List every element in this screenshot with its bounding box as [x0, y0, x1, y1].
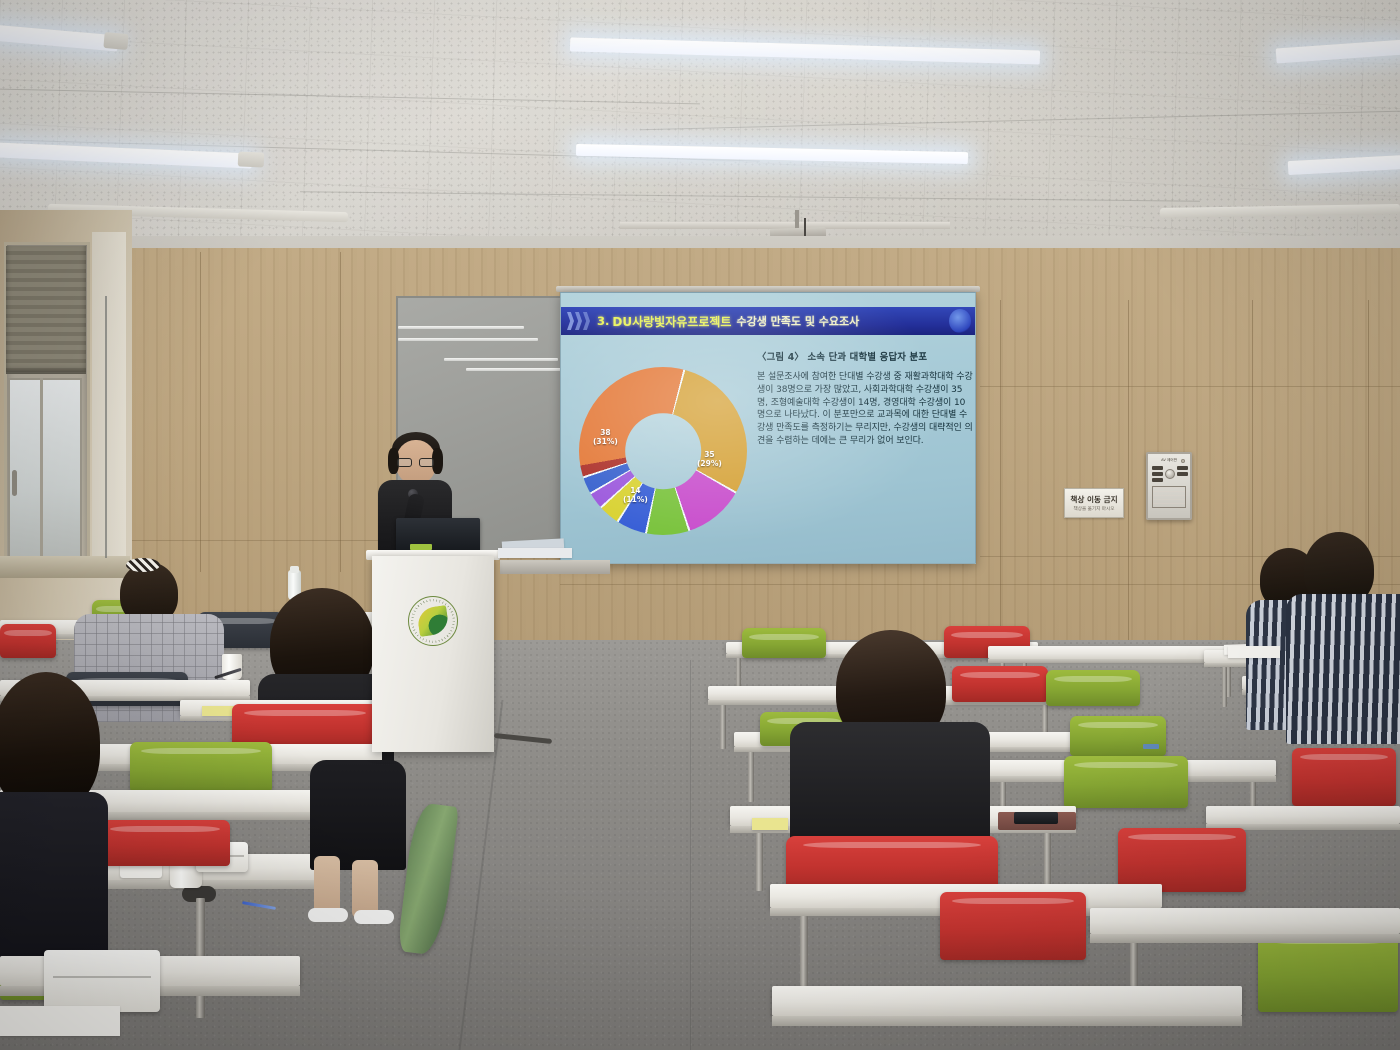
whiteboard-rail [398, 326, 524, 329]
sign-subtitle: 책상을 옮기지 마시오 [1074, 506, 1115, 512]
chair-label-tag [1143, 744, 1159, 749]
wall-panel-seam [980, 386, 1400, 387]
panel-button[interactable] [1152, 466, 1163, 470]
slide-body-text: 본 설문조사에 참여한 단대별 수강생 중 재활과학대학 수강생이 38명으로 … [757, 371, 973, 448]
panel-display [1152, 486, 1186, 508]
light-housing [103, 32, 128, 50]
slide-title-bar: 3. DU사랑빛자유프로젝트 수강생 만족도 및 수요조사 [561, 307, 976, 335]
slide-body: 38 (31%) 35 (29%) 14 (11%) 〈그림 4〉 소속 단과 … [561, 345, 976, 564]
donut-slice-label: 35 (29%) [697, 451, 722, 468]
desk-leg [720, 705, 726, 749]
chair[interactable] [130, 742, 272, 792]
projection-screen: 3. DU사랑빛자유프로젝트 수강생 만족도 및 수요조사 38 (31%) 3… [560, 292, 976, 564]
sticky-note [752, 818, 788, 830]
desk [1206, 806, 1400, 824]
attendee-right-front [1286, 532, 1400, 732]
document-sheet [0, 1006, 120, 1036]
av-control-panel[interactable]: AV 제어판 [1146, 452, 1192, 520]
attendee-center [790, 630, 990, 870]
wall-panel-seam [200, 252, 201, 572]
light-housing [238, 151, 265, 167]
attendee-leg [314, 856, 340, 916]
university-emblem [408, 596, 458, 646]
whiteboard-rail [444, 358, 558, 361]
window-glass [8, 378, 82, 564]
panel-button[interactable] [1152, 472, 1163, 476]
window-mullion [40, 378, 43, 564]
attendee-shoe [308, 908, 348, 922]
donut-slice-label: 14 (11%) [623, 487, 648, 504]
chair[interactable] [0, 624, 56, 658]
donut-chart: 38 (31%) 35 (29%) 14 (11%) [579, 367, 747, 535]
lecture-hall-photo: 3. DU사랑빛자유프로젝트 수강생 만족도 및 수요조사 38 (31%) 3… [0, 0, 1400, 1050]
slide-title-rest: 수강생 만족도 및 수요조사 [736, 313, 859, 329]
control-panel-buttons[interactable] [1152, 466, 1186, 482]
panel-button[interactable] [1177, 466, 1188, 470]
desk-edge [772, 1016, 1242, 1026]
floor-seam [690, 660, 691, 1050]
chair[interactable] [1118, 828, 1246, 892]
chair[interactable] [1070, 716, 1166, 756]
wall-panel-seam [132, 540, 412, 541]
wall-pillar [92, 232, 126, 562]
chevron-right-icon [567, 312, 590, 330]
desk-edge [1090, 934, 1400, 943]
screen-lower-trim [500, 560, 610, 574]
desk-leg [800, 916, 808, 986]
attendee-shoe [354, 910, 394, 924]
lectern [372, 556, 494, 752]
desk-leg [1044, 833, 1051, 891]
attendee-torso [0, 792, 108, 962]
donut-slice-label: 38 (31%) [593, 429, 618, 446]
chair[interactable] [1292, 748, 1396, 806]
coffee-cup[interactable] [222, 654, 242, 680]
glasses-icon [397, 458, 435, 467]
panel-knob[interactable] [1165, 469, 1175, 479]
hair-clip [126, 558, 160, 572]
panel-button[interactable] [1177, 472, 1188, 476]
desk-leg [1222, 667, 1227, 707]
whiteboard-seam [105, 296, 107, 558]
window-handle[interactable] [12, 470, 17, 496]
desk-leg [748, 752, 754, 802]
whiteboard-rail [398, 338, 538, 341]
wall-panel-seam [340, 252, 341, 572]
chair[interactable] [940, 892, 1086, 960]
title-orb-decoration [949, 309, 971, 333]
status-led-icon [1181, 459, 1185, 463]
attendee-torso [310, 760, 406, 870]
figure-caption: 〈그림 4〉 소속 단과 대학별 응답자 분포 [757, 349, 971, 363]
attendee-foreground-left [0, 672, 122, 932]
presenter-laptop[interactable] [396, 518, 480, 554]
sign-title: 책상 이동 금지 [1070, 494, 1117, 505]
desk-move-prohibited-sign: 책상 이동 금지 책상을 옮기지 마시오 [1064, 488, 1124, 518]
papers-on-table [498, 548, 572, 558]
slide-title-highlight: DU사랑빛자유프로젝트 [612, 313, 731, 330]
chair[interactable] [1258, 932, 1398, 1012]
desk [772, 986, 1242, 1016]
bottle-cap [290, 566, 299, 573]
attendee-torso [1286, 594, 1400, 744]
chair[interactable] [1046, 670, 1140, 706]
panel-button[interactable] [1152, 478, 1163, 482]
wall-panel-seam [1128, 300, 1129, 660]
slide-title-number: 3. [597, 314, 609, 328]
whiteboard-rail [466, 368, 566, 371]
window-blinds[interactable] [6, 246, 86, 374]
chair[interactable] [1064, 756, 1188, 808]
desk [1090, 908, 1400, 934]
mobile-phone[interactable] [1014, 812, 1058, 824]
lunch-box[interactable] [44, 950, 160, 1012]
open-book [1228, 646, 1280, 658]
wall-panel-seam [1000, 300, 1001, 660]
desk-leg [756, 833, 763, 891]
donut-hole [625, 413, 701, 489]
attendee-hair [0, 672, 100, 812]
